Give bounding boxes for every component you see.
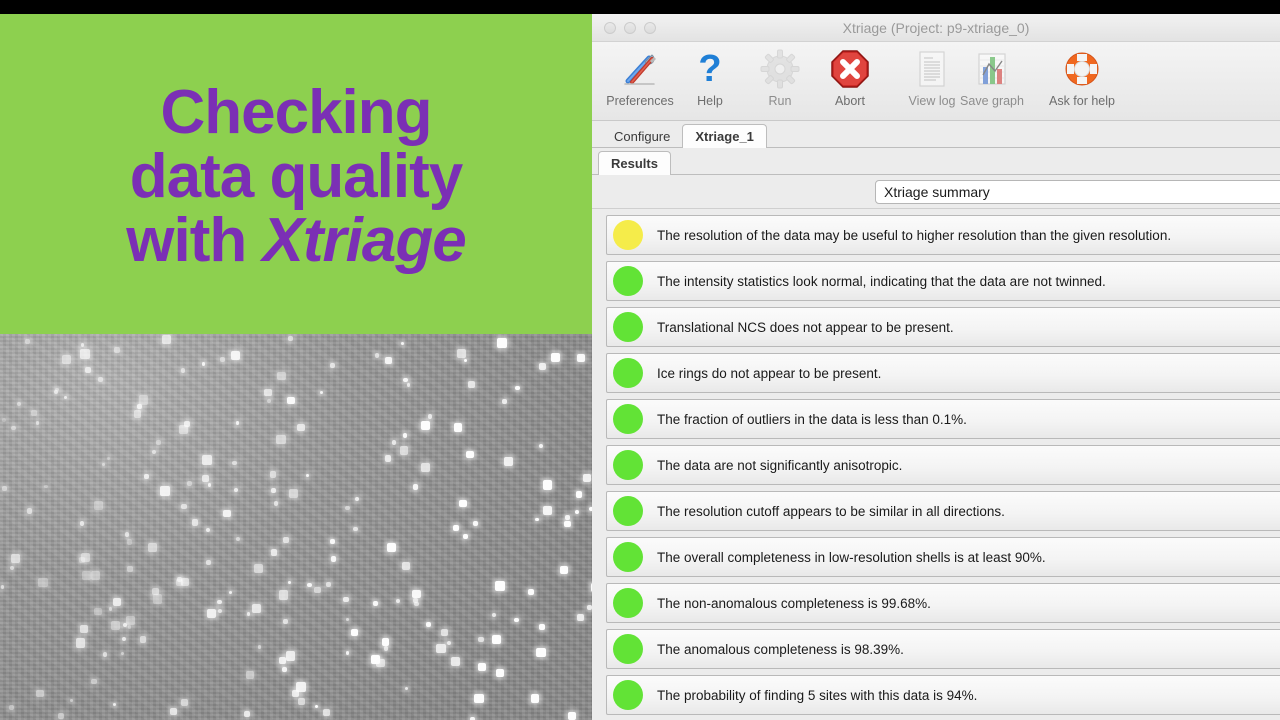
diffraction-spot [25,339,30,344]
diffraction-spot [111,621,120,630]
result-message: Translational NCS does not appear to be … [657,320,954,335]
diffraction-spot [160,486,170,496]
toolbar-button-help[interactable]: ?Help [670,46,750,108]
diffraction-spot [402,562,411,571]
diffraction-spot [306,474,309,477]
diffraction-spot [127,539,133,545]
diffraction-spot [283,619,287,623]
window-titlebar: Xtriage (Project: p9-xtriage_0) [592,14,1280,42]
diffraction-spot [298,698,305,705]
diffraction-spot [468,381,475,388]
diffraction-spot [109,607,112,610]
diffraction-spot [457,349,466,358]
toolbar-button-label: Ask for help [1042,94,1122,108]
diffraction-spot [218,609,222,613]
diffraction-spot [103,652,107,656]
diffraction-spot [144,474,149,479]
diffraction-spot [385,357,392,364]
diffraction-spot [270,471,277,478]
diffraction-spot [80,349,90,359]
diffraction-spot [288,336,293,341]
diffraction-spot [246,671,254,679]
diffraction-spot [113,598,122,607]
diffraction-spot [459,500,466,507]
diffraction-spot [396,599,400,603]
diffraction-spot [279,590,289,600]
diffraction-spot [496,669,503,676]
diffraction-spot [76,638,85,647]
result-message: The overall completeness in low-resoluti… [657,550,1046,565]
slide-title-card: Checking data quality with Xtriage [0,14,592,334]
diffraction-spot [289,489,298,498]
slide-panel: Checking data quality with Xtriage [0,14,592,720]
diffraction-spot [36,421,40,425]
diffraction-spot [565,515,570,520]
diffraction-spot [478,637,484,643]
diffraction-spot [279,657,286,664]
diffraction-spot [276,435,286,445]
diffraction-spot [91,679,96,684]
diffraction-spot [536,648,546,658]
status-ok-icon [613,404,643,434]
status-ok-icon [613,496,643,526]
diffraction-spot [187,481,192,486]
diffraction-spot [271,488,276,493]
tab-xtriage_1[interactable]: Xtriage_1 [682,124,767,149]
life-ring-icon [1042,46,1122,92]
result-row[interactable]: Translational NCS does not appear to be … [606,307,1280,347]
diffraction-spot [384,646,389,651]
diffraction-spot [134,410,141,417]
diffraction-spot [192,519,198,525]
diffraction-spot [568,712,576,720]
diffraction-spot [413,484,418,489]
result-message: The intensity statistics look normal, in… [657,274,1106,289]
diffraction-spot [202,475,209,482]
diffraction-spot [331,556,337,562]
status-ok-icon [613,542,643,572]
status-ok-icon [613,266,643,296]
diffraction-spot [441,629,449,637]
diffraction-spot [451,657,460,666]
diffraction-spot [207,609,216,618]
gear-icon [740,46,820,92]
diffraction-spot [421,463,430,472]
result-row[interactable]: The resolution of the data may be useful… [606,215,1280,255]
status-ok-icon [613,588,643,618]
diffraction-spot [421,421,430,430]
diffraction-spot [454,423,463,432]
diffraction-spot [80,625,88,633]
diffraction-spot [58,713,64,719]
diffraction-spot [125,532,130,537]
stop-x-icon [810,46,890,92]
diffraction-spot [314,587,320,593]
diffraction-spot [27,508,33,514]
diffraction-spot [346,618,349,621]
diffraction-spot [353,527,357,531]
diffraction-spot [223,510,230,517]
result-message: The resolution cutoff appears to be simi… [657,504,1005,519]
diffraction-spot [9,705,14,710]
diffraction-spot [153,594,162,603]
subtab-results[interactable]: Results [598,151,671,176]
diffraction-spot [126,616,135,625]
diffraction-spot [307,583,312,588]
diffraction-spot [11,554,20,563]
toolbar-button-label: Run [740,94,820,108]
diffraction-spot [539,363,546,370]
diffraction-spot [162,335,171,344]
diffraction-spot [55,388,59,392]
diffraction-spot [504,457,514,467]
diffraction-noise-overlay [0,334,592,720]
xtriage-app-window: Xtriage (Project: p9-xtriage_0) Preferen… [592,14,1280,720]
toolbar-button-label: Save graph [952,94,1032,108]
diffraction-spot [264,389,272,397]
diffraction-spot [492,635,501,644]
xtriage-summary-dropdown[interactable]: Xtriage summary [875,180,1280,204]
diffraction-spot [296,682,306,692]
diffraction-spot [94,501,103,510]
tools-icon [600,46,680,92]
status-ok-icon [613,358,643,388]
diffraction-spot [236,421,240,425]
diffraction-spot [176,579,183,586]
toolbar-button-abort[interactable]: Abort [810,46,890,108]
tab-configure[interactable]: Configure [602,125,682,149]
diffraction-spot [271,549,278,556]
toolbar-button-label: Abort [810,94,890,108]
diffraction-spot [551,353,561,363]
slide-title-line-3: with Xtriage [126,209,465,273]
diffraction-spot [474,694,483,703]
diffraction-spot [497,338,507,348]
diffraction-spot [376,659,385,668]
diffraction-spot [323,709,330,716]
diffraction-spot [385,455,391,461]
diffraction-spot [179,425,188,434]
diffraction-spot [122,637,126,641]
diffraction-spot [107,457,110,460]
result-message: The data are not significantly anisotrop… [657,458,902,473]
diffraction-spot [535,518,539,522]
diffraction-spot [528,589,534,595]
diffraction-spot [62,355,71,364]
diffraction-spot [91,571,100,580]
diffraction-spot [64,396,67,399]
svg-text:?: ? [698,49,721,89]
screenshot-root: Checking data quality with Xtriage Xtria… [0,0,1280,720]
diffraction-spot [113,703,116,706]
bar-chart-icon [952,46,1032,92]
question-mark-icon: ? [670,46,750,92]
diffraction-spot [81,343,85,347]
diffraction-spot [436,644,446,654]
result-row[interactable]: The data are not significantly anisotrop… [606,445,1280,485]
diffraction-spot [297,424,304,431]
diffraction-spot [254,564,263,573]
diffraction-spot [181,504,186,509]
toolbar-button-ask-for-help[interactable]: Ask for help [1042,46,1122,108]
toolbar-button-label: Preferences [600,94,680,108]
diffraction-spot [392,440,397,445]
diffraction-pattern-image [0,334,592,720]
diffraction-spot [355,497,359,501]
slide-title-line-2: data quality [130,145,463,209]
diffraction-spot [373,601,378,606]
result-message: The resolution of the data may be useful… [657,228,1171,243]
diffraction-spot [236,537,240,541]
diffraction-spot [277,372,285,380]
diffraction-spot [94,608,102,616]
diffraction-spot [282,667,287,672]
diffraction-spot [258,645,261,648]
slide-title-with: with [126,206,262,275]
diffraction-spot [412,590,421,599]
diffraction-spot [85,367,91,373]
result-message: The non-anomalous completeness is 99.68%… [657,596,931,611]
diffraction-spot [287,397,294,404]
diffraction-spot [170,708,178,716]
diffraction-spot [343,597,349,603]
diffraction-spot [232,461,237,466]
status-warning-icon [613,220,643,250]
diffraction-spot [531,694,540,703]
result-message: The anomalous completeness is 98.39%. [657,642,904,657]
diffraction-spot [382,638,390,646]
result-row[interactable]: The non-anomalous completeness is 99.68%… [606,583,1280,623]
result-message: Ice rings do not appear to be present. [657,366,881,381]
diffraction-spot [244,711,250,717]
diffraction-spot [387,543,396,552]
diffraction-spot [114,347,120,353]
slide-title-xtriage: Xtriage [263,206,466,275]
diffraction-spot [453,525,460,532]
toolbar-button-preferences[interactable]: Preferences [600,46,680,108]
toolbar-button-label: Help [670,94,750,108]
toolbar-button-save-graph[interactable]: Save graph [952,46,1032,108]
diffraction-spot [564,521,570,527]
diffraction-spot [139,395,149,405]
diffraction-spot [583,474,591,482]
diffraction-spot [478,663,486,671]
diffraction-spot [473,521,478,526]
diffraction-spot [414,602,418,606]
diffraction-spot [81,553,90,562]
diffraction-spot [560,566,568,574]
result-row[interactable]: The resolution cutoff appears to be simi… [606,491,1280,531]
diffraction-spot [220,357,225,362]
diffraction-spot [127,566,133,572]
diffraction-spot [82,571,91,580]
diffraction-spot [140,636,147,643]
diffraction-spot [36,690,43,697]
diffraction-spot [576,491,582,497]
diffraction-spot [128,625,132,629]
status-ok-icon [613,680,643,710]
status-ok-icon [613,634,643,664]
diffraction-spot [152,588,159,595]
diffraction-spot [286,651,296,661]
diffraction-spot [31,410,37,416]
diffraction-spot [539,624,545,630]
diffraction-spot [181,699,189,707]
result-row[interactable]: The anomalous completeness is 98.39%. [606,629,1280,669]
status-ok-icon [613,450,643,480]
status-ok-icon [613,312,643,342]
sub-tabbar: Results [592,148,1280,175]
diffraction-spot [283,537,289,543]
diffraction-spot [502,399,507,404]
result-row[interactable]: Ice rings do not appear to be present. [606,353,1280,393]
result-message: The probability of finding 5 sites with … [657,688,977,703]
diffraction-spot [231,351,240,360]
diffraction-spot [206,560,211,565]
result-row[interactable]: The probability of finding 5 sites with … [606,675,1280,715]
diffraction-spot [495,581,505,591]
result-row[interactable]: The fraction of outliers in the data is … [606,399,1280,439]
result-message: The fraction of outliers in the data is … [657,412,967,427]
toolbar-button-run[interactable]: Run [740,46,820,108]
diffraction-spot [38,578,47,587]
diffraction-spot [208,483,212,487]
diffraction-spot [515,386,520,391]
result-row[interactable]: The overall completeness in low-resoluti… [606,537,1280,577]
diffraction-spot [326,582,331,587]
diffraction-spot [543,480,553,490]
diffraction-spot [577,354,585,362]
diffraction-spot [577,614,584,621]
summary-selector-bar: Xtriage summary [592,175,1280,209]
toolbar: Preferences ?Help Run Abort [592,42,1280,121]
diffraction-spot [463,534,468,539]
diffraction-spot [351,629,359,637]
results-list[interactable]: The resolution of the data may be useful… [592,209,1280,719]
diffraction-spot [217,600,222,605]
diffraction-spot [543,506,552,515]
diffraction-spot [514,618,519,623]
result-row[interactable]: The intensity statistics look normal, in… [606,261,1280,301]
diffraction-spot [375,353,379,357]
main-tabbar: ConfigureXtriage_1 [592,121,1280,148]
diffraction-spot [466,451,473,458]
diffraction-spot [252,604,261,613]
window-title: Xtriage (Project: p9-xtriage_0) [592,20,1280,36]
diffraction-spot [202,455,211,464]
slide-title-line-1: Checking [160,81,431,145]
diffraction-spot [400,446,408,454]
diffraction-spot [17,402,21,406]
diffraction-spot [148,543,157,552]
